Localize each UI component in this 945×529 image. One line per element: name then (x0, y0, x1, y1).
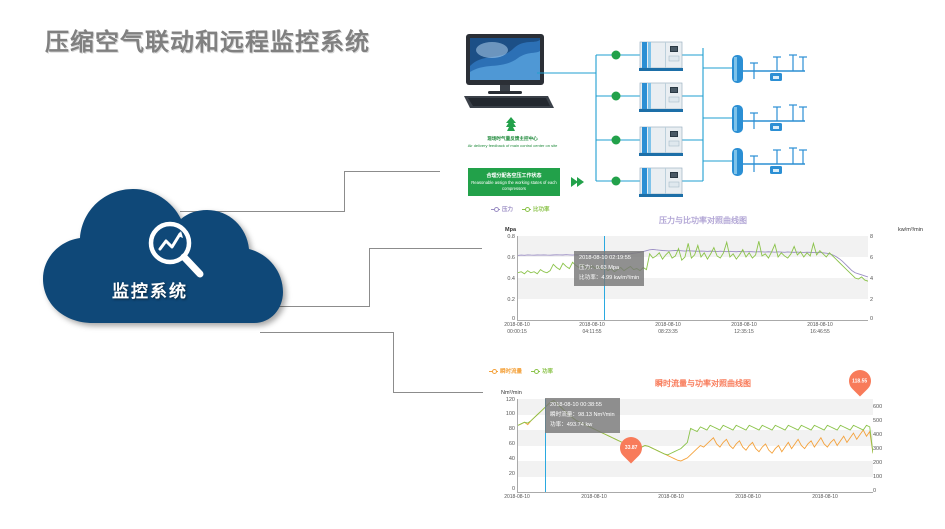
feedback-label-cn: 现场时气量反馈主控中心 (460, 136, 565, 142)
chart1-title: 压力与比功率对照曲线图 (603, 215, 803, 226)
working-state-box: 合理分配各空压工作状态 Reasonable assign the workin… (468, 168, 560, 196)
air-tank-distribution (730, 101, 840, 137)
air-tank-distribution (730, 144, 840, 180)
chart1-ytick: 0.4 (483, 276, 515, 282)
tooltip-line-2: 功率：493.74 kw (550, 421, 615, 431)
compressor-unit (639, 40, 685, 72)
xtick-date: 2018-08-10 (562, 322, 622, 329)
chart1-tooltip: 2018-08-10 02:19:55 压力：0.63 Mpa 比功率：4.99… (574, 251, 644, 286)
marker-label: 33.87 (625, 445, 638, 451)
chart2-legend[interactable]: 瞬时流量 功率 (489, 367, 553, 375)
chart2-y2tick: 0 (873, 488, 897, 494)
legend-label: 压力 (502, 205, 513, 213)
xtick-date: 2018-08-10 (790, 322, 850, 329)
magnifier-chart-icon (143, 217, 209, 283)
chart2-y2tick: 400 (873, 432, 897, 438)
chart2-y-axis-unit: Nm³/min (501, 390, 522, 396)
chart1-xtick: 2018-08-10 16:46:55 (790, 322, 850, 336)
chart2-ytick: 120 (483, 397, 515, 403)
chart2-xtick: 2018-08-10 (641, 494, 701, 501)
legend-label: 功率 (542, 367, 553, 375)
chart2-ytick: 60 (483, 441, 515, 447)
tooltip-line-1: 压力：0.63 Mpa (579, 264, 639, 274)
pressure-chart[interactable]: 压力 比功率 压力与比功率对照曲线图 Mpa kw/m³/min 0.8 0.6… (483, 203, 923, 333)
chart2-y2tick: 200 (873, 460, 897, 466)
chart1-y2tick: 6 (870, 255, 890, 261)
legend-marker-icon (489, 369, 498, 374)
chart1-legend[interactable]: 压力 比功率 (491, 205, 550, 213)
chart2-y2tick: 300 (873, 446, 897, 452)
chart1-xtick: 2018-08-10 00:00:15 (487, 322, 547, 336)
chart1-y2tick: 0 (870, 316, 890, 322)
marker-label: 118.55 (852, 378, 867, 384)
chart2-ytick: 0 (483, 486, 515, 492)
chart1-y-axis-unit: Mpa (505, 227, 516, 233)
page-title: 压缩空气联动和远程监控系统 (45, 22, 370, 57)
chart2-marker-max[interactable]: 118.55 (844, 365, 875, 396)
chart1-xtick: 2018-08-10 12:35:15 (714, 322, 774, 336)
legend-label: 比功率 (533, 205, 550, 213)
xtick-time: 08:23:35 (638, 329, 698, 336)
xtick-date: 2018-08-10 (487, 322, 547, 329)
chart2-ytick: 20 (483, 471, 515, 477)
chart2-xtick: 2018-08-10 (487, 494, 547, 501)
chart1-xtick: 2018-08-10 08:23:35 (638, 322, 698, 336)
chart2-ytick: 80 (483, 426, 515, 432)
xtick-time: 12:35:15 (714, 329, 774, 336)
legend-marker-icon (531, 369, 540, 374)
chart2-y2tick: 600 (873, 404, 897, 410)
legend-marker-icon (491, 207, 500, 212)
chart1-y2tick: 8 (870, 234, 890, 240)
chart1-y2tick: 4 (870, 276, 890, 282)
legend-label: 瞬时流量 (500, 367, 522, 375)
chart1-ytick: 0.6 (483, 255, 515, 261)
up-arrow-icon (504, 117, 518, 133)
working-state-cn: 合理分配各空压工作状态 (468, 173, 560, 179)
legend-item-specific-power[interactable]: 比功率 (522, 205, 550, 213)
feedback-label-en: Air delivery feedback of main control ce… (460, 143, 565, 148)
chart1-y2tick: 2 (870, 297, 890, 303)
system-topology-diagram: 现场时气量反馈主控中心 Air delivery feedback of mai… (440, 18, 940, 203)
xtick-time: 00:00:15 (487, 329, 547, 336)
tooltip-line-2: 比功率：4.99 kw/m³/min (579, 274, 639, 284)
legend-item-power[interactable]: 功率 (531, 367, 553, 375)
chart2-ytick: 100 (483, 411, 515, 417)
cloud-label: 监控系统 (35, 277, 265, 302)
chart2-title: 瞬时流量与功率对照曲线图 (593, 378, 813, 389)
right-arrow-icon (570, 175, 584, 189)
xtick-date: 2018-08-10 (714, 322, 774, 329)
compressor-unit (639, 125, 685, 157)
tooltip-line-1: 瞬时流量：98.13 Nm³/min (550, 411, 615, 421)
xtick-time: 04:11:55 (562, 329, 622, 336)
compressor-unit (639, 166, 685, 198)
chart1-ytick: 0.8 (483, 234, 515, 240)
monitoring-cloud[interactable]: 监控系统 (35, 185, 290, 325)
chart2-tooltip: 2018-08-10 00:38:55 瞬时流量：98.13 Nm³/min 功… (545, 398, 620, 433)
chart2-xtick: 2018-08-10 (564, 494, 624, 501)
chart2-y2tick: 500 (873, 418, 897, 424)
legend-marker-icon (522, 207, 531, 212)
tooltip-timestamp: 2018-08-10 02:19:55 (579, 254, 639, 264)
chart2-xtick: 2018-08-10 (718, 494, 778, 501)
xtick-date: 2018-08-10 (638, 322, 698, 329)
chart1-y2-axis-unit: kw/m³/min (898, 227, 923, 233)
working-state-en: Reasonable assign the working states of … (468, 180, 560, 191)
xtick-time: 16:46:55 (790, 329, 850, 336)
flow-power-chart[interactable]: 瞬时流量 功率 瞬时流量与功率对照曲线图 Nm³/min 120 100 80 … (483, 366, 923, 526)
chart2-xtick: 2018-08-10 (795, 494, 855, 501)
legend-item-flow[interactable]: 瞬时流量 (489, 367, 522, 375)
chart1-plot-area[interactable] (517, 236, 868, 321)
compressor-unit (639, 81, 685, 113)
chart1-series-canvas (518, 236, 868, 320)
chart2-ytick: 40 (483, 456, 515, 462)
air-tank-distribution (730, 51, 840, 87)
legend-item-pressure[interactable]: 压力 (491, 205, 513, 213)
chart1-xtick: 2018-08-10 04:11:55 (562, 322, 622, 336)
tooltip-timestamp: 2018-08-10 00:38:55 (550, 401, 615, 411)
feedback-label: 现场时气量反馈主控中心 Air delivery feedback of mai… (460, 136, 565, 148)
chart2-y2tick: 100 (873, 474, 897, 480)
chart1-ytick: 0.2 (483, 297, 515, 303)
